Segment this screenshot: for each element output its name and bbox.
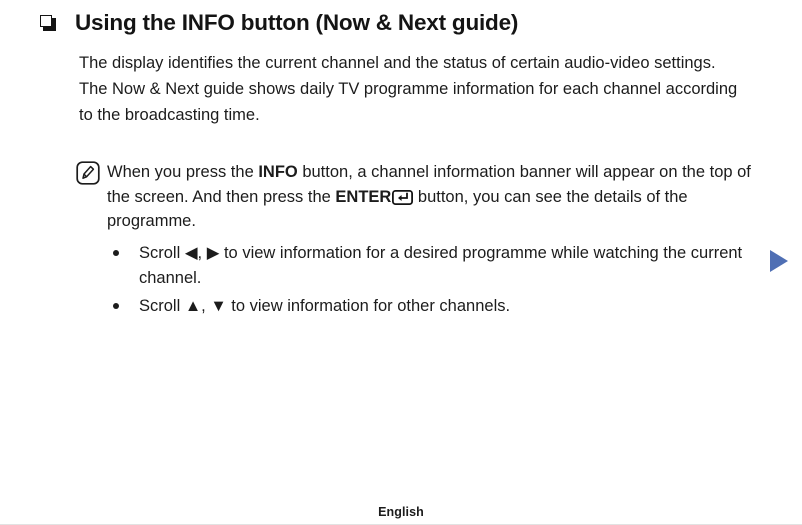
page-footer: English bbox=[0, 503, 802, 521]
note-text: When you press the INFO button, a channe… bbox=[107, 160, 766, 234]
note-keyword-info: INFO bbox=[258, 163, 297, 181]
list-item-label: Scroll ◀, ▶ to view information for a de… bbox=[139, 241, 763, 290]
next-page-triangle-icon[interactable] bbox=[770, 250, 788, 272]
page-title: Using the INFO button (Now & Next guide) bbox=[40, 8, 762, 38]
note-keyword-enter: ENTER bbox=[335, 188, 391, 206]
hollow-square-marker-icon bbox=[40, 15, 55, 30]
page-title-text: Using the INFO button (Now & Next guide) bbox=[75, 8, 518, 38]
manual-page: Using the INFO button (Now & Next guide)… bbox=[0, 0, 802, 525]
paragraph-2: The Now & Next guide shows daily TV prog… bbox=[79, 76, 755, 128]
note-text-segment-1: When you press the bbox=[107, 163, 258, 181]
list-item-label: Scroll ▲, ▼ to view information for othe… bbox=[139, 294, 763, 319]
footer-language-label: English bbox=[378, 505, 424, 519]
note-pen-icon bbox=[76, 161, 100, 185]
scroll-instructions-list: Scroll ◀, ▶ to view information for a de… bbox=[113, 241, 763, 319]
list-item: Scroll ▲, ▼ to view information for othe… bbox=[113, 294, 763, 319]
paragraph-1: The display identifies the current chann… bbox=[79, 50, 755, 76]
list-item: Scroll ◀, ▶ to view information for a de… bbox=[113, 241, 763, 290]
round-bullet-icon bbox=[113, 303, 119, 309]
round-bullet-icon bbox=[113, 250, 119, 256]
enter-key-icon bbox=[392, 188, 413, 203]
note-callout: When you press the INFO button, a channe… bbox=[76, 160, 766, 234]
intro-paragraphs: The display identifies the current chann… bbox=[79, 50, 755, 128]
